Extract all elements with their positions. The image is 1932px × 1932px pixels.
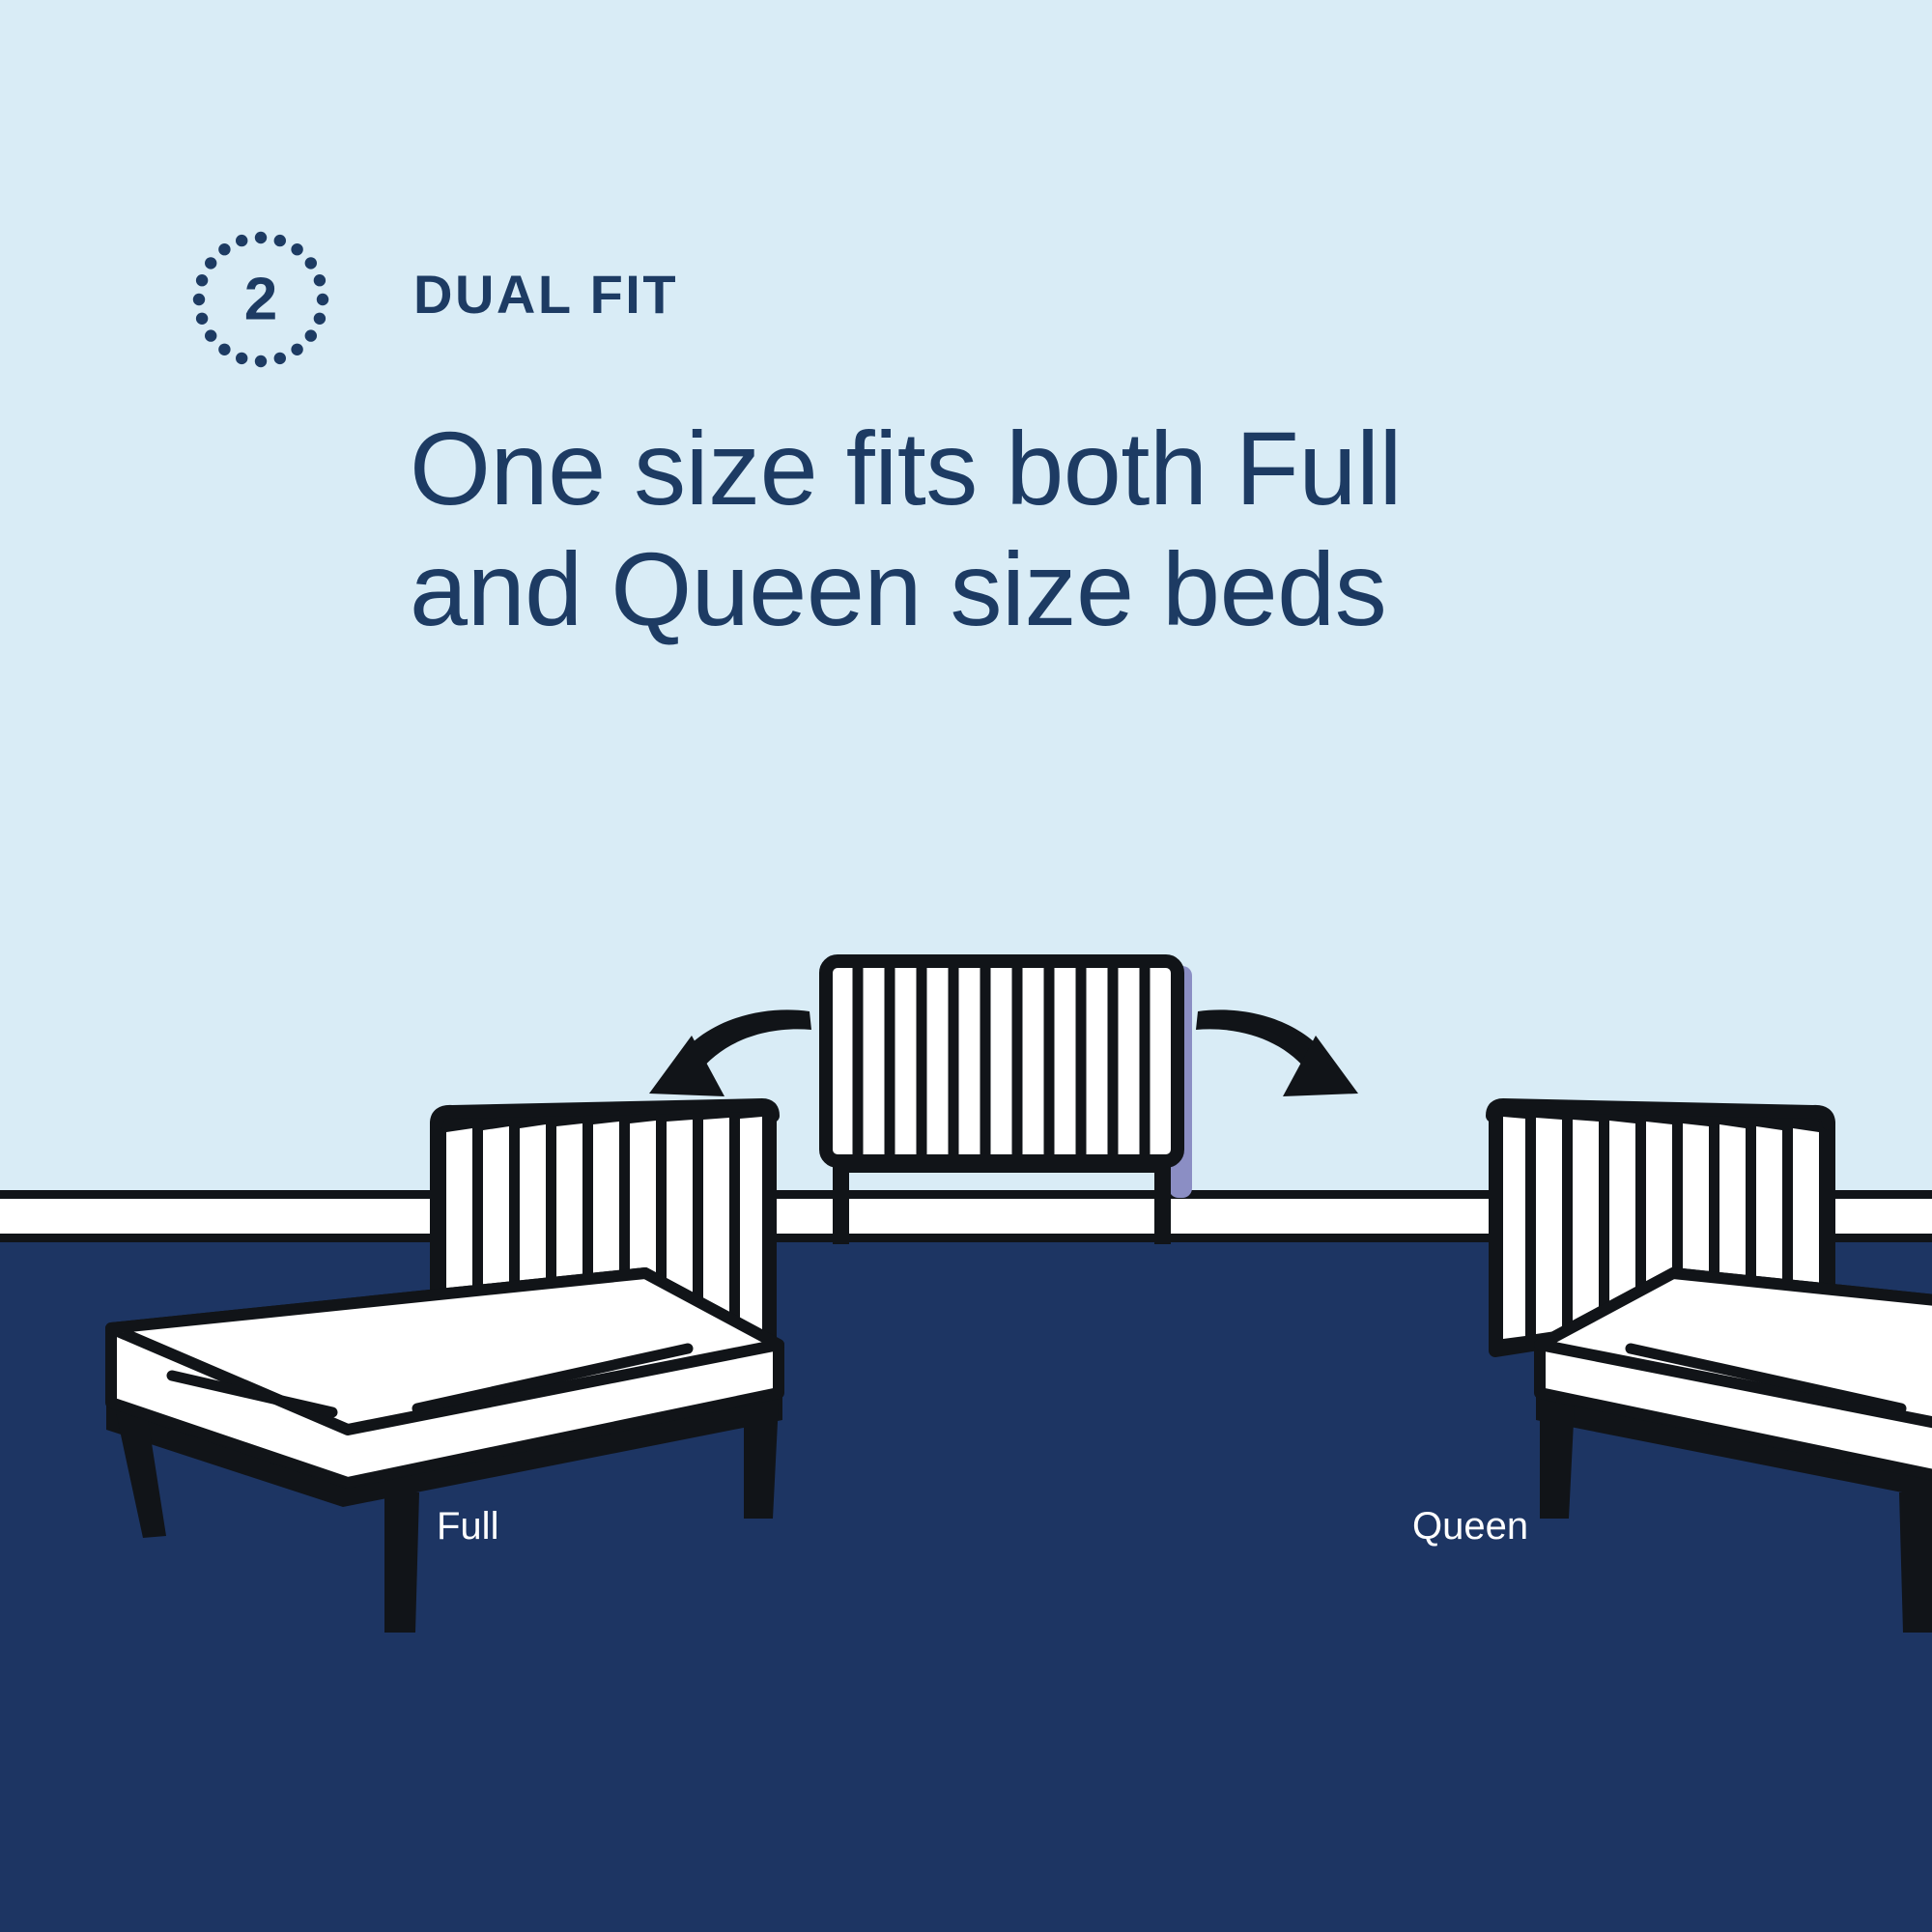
- baseboard-bottom-line: [0, 1234, 1932, 1242]
- baseboard: [0, 1199, 1932, 1234]
- floor-background: [0, 1242, 1932, 1932]
- step-number-text: 2: [244, 267, 277, 333]
- section-eyebrow: DUAL FIT: [413, 268, 678, 322]
- page-headline: One size fits both Full and Queen size b…: [410, 408, 1402, 650]
- bed-label-queen: Queen: [1412, 1507, 1528, 1546]
- infographic-canvas: 2 DUAL FIT One size fits both Full and Q…: [0, 0, 1932, 1932]
- step-number-badge: 2: [191, 230, 330, 369]
- bed-label-full: Full: [437, 1507, 498, 1546]
- wall-bottom-line: [0, 1190, 1932, 1199]
